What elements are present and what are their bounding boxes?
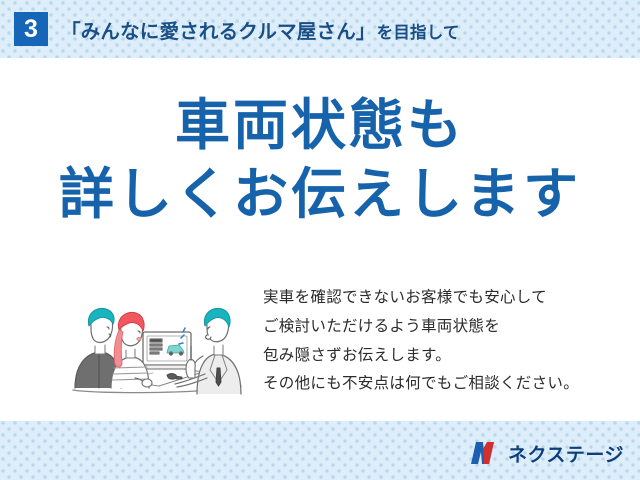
headline-line-2: 詳しくお伝えします <box>0 165 640 224</box>
brand-wordmark: ネクステージ <box>508 440 624 467</box>
lower-section: 実車を確認できないお客様でも安心して ご検討いただけるよう車両状態を 包み隠さず… <box>0 280 640 418</box>
header-title-main: 「みんなに愛されるクルマ屋さん」 <box>61 15 376 44</box>
content-panel: 車両状態も 詳しくお伝えします <box>0 58 640 421</box>
consultation-illustration <box>55 282 255 402</box>
body-copy: 実車を確認できないお客様でも安心して ご検討いただけるよう車両状態を 包み隠さず… <box>263 284 579 399</box>
brand-logo: ネクステージ <box>465 438 624 468</box>
body-copy-line-1: 実車を確認できないお客様でも安心して <box>263 284 579 313</box>
header-title: 「みんなに愛されるクルマ屋さん」 を目指して <box>61 15 460 44</box>
advertisement-canvas: 3 「みんなに愛されるクルマ屋さん」 を目指して 車両状態も 詳しくお伝えします <box>0 0 640 480</box>
header-band: 3 「みんなに愛されるクルマ屋さん」 を目指して <box>0 0 640 58</box>
body-copy-line-2: ご検討いただけるよう車両状態を <box>263 313 579 342</box>
nextage-n-mark-icon <box>465 440 501 466</box>
step-number-badge: 3 <box>14 12 48 46</box>
header-title-suffix: を目指して <box>377 19 460 43</box>
consultation-illustration-svg <box>55 282 255 402</box>
headline: 車両状態も 詳しくお伝えします <box>0 96 640 225</box>
body-copy-line-3: 包み隠さずお伝えします。 <box>263 342 579 371</box>
headline-line-1: 車両状態も <box>0 96 640 155</box>
body-copy-line-4: その他にも不安点は何でもご相談ください。 <box>263 370 579 399</box>
